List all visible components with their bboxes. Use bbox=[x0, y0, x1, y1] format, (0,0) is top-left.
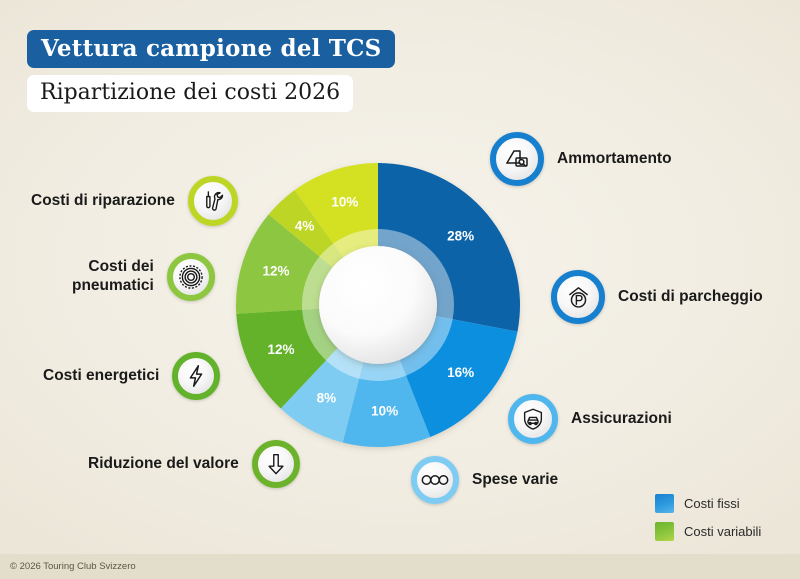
tyre-icon bbox=[167, 253, 215, 301]
copyright-text: © 2026 Touring Club Svizzero bbox=[10, 561, 136, 572]
legend-item-pneumatici[interactable]: Costi dei pneumatici bbox=[72, 253, 215, 301]
value-reduction-arrow-icon bbox=[252, 440, 300, 488]
legend-item-assicurazioni[interactable]: Assicurazioni bbox=[508, 394, 672, 444]
slice-percent-label: 28% bbox=[447, 228, 474, 243]
legend-item-spese-varie[interactable]: Spese varie bbox=[411, 456, 558, 504]
slice-percent-label: 12% bbox=[262, 263, 289, 278]
legend-label-fixed: Costi fissi bbox=[684, 496, 740, 511]
parking-label: Costi di parcheggio bbox=[618, 288, 763, 307]
repair-tools-icon bbox=[188, 176, 238, 226]
energy-label: Costi energetici bbox=[43, 367, 159, 386]
infographic-canvas: Vettura campione del TCS Ripartizione de… bbox=[0, 0, 800, 579]
cost-distribution-donut-chart: 28%16%10%8%12%12%4%10% bbox=[236, 163, 520, 447]
legend-row-fixed: Costi fissi bbox=[655, 494, 761, 513]
repair-label: Costi di riparazione bbox=[31, 192, 175, 211]
footer-bar: © 2026 Touring Club Svizzero bbox=[0, 554, 800, 579]
tyres-label: Costi dei pneumatici bbox=[72, 258, 154, 296]
donut-hub bbox=[319, 246, 437, 364]
legend-label-variable: Costi variabili bbox=[684, 524, 761, 539]
amortization-label: Ammortamento bbox=[557, 150, 672, 169]
legend-item-riduzione[interactable]: Riduzione del valore bbox=[88, 440, 300, 488]
legend-swatch-variable bbox=[655, 522, 674, 541]
legend-item-amortamento[interactable]: Ammortamento bbox=[490, 132, 672, 186]
misc-expenses-icon bbox=[411, 456, 459, 504]
legend-item-parcheggio[interactable]: Costi di parcheggio bbox=[551, 270, 763, 324]
parking-icon bbox=[551, 270, 605, 324]
donut-svg: 28%16%10%8%12%12%4%10% bbox=[236, 163, 520, 447]
chart-legend: Costi fissi Costi variabili bbox=[655, 494, 761, 550]
legend-row-variable: Costi variabili bbox=[655, 522, 761, 541]
misc-expenses-label: Spese varie bbox=[472, 471, 558, 490]
slice-percent-label: 16% bbox=[447, 365, 474, 380]
amortization-icon bbox=[490, 132, 544, 186]
slice-percent-label: 4% bbox=[295, 218, 315, 233]
value-reduction-label: Riduzione del valore bbox=[88, 455, 239, 474]
legend-swatch-fixed bbox=[655, 494, 674, 513]
title-subtitle: Ripartizione dei costi 2026 bbox=[27, 75, 353, 112]
title-main: Vettura campione del TCS bbox=[27, 30, 395, 68]
insurance-shield-icon bbox=[508, 394, 558, 444]
slice-percent-label: 8% bbox=[317, 390, 337, 405]
page-title: Vettura campione del TCS Ripartizione de… bbox=[27, 30, 395, 112]
slice-percent-label: 12% bbox=[267, 342, 294, 357]
slice-percent-label: 10% bbox=[371, 404, 398, 419]
legend-item-riparazione[interactable]: Costi di riparazione bbox=[31, 176, 238, 226]
slice-percent-label: 10% bbox=[331, 195, 358, 210]
legend-item-energetici[interactable]: Costi energetici bbox=[43, 352, 220, 400]
energy-bolt-icon bbox=[172, 352, 220, 400]
insurance-label: Assicurazioni bbox=[571, 410, 672, 429]
